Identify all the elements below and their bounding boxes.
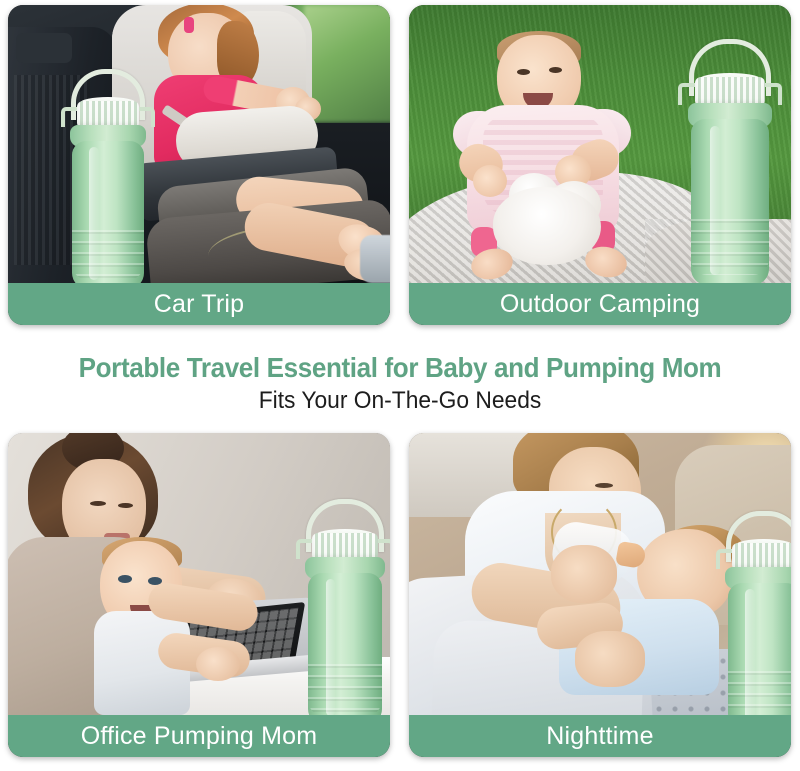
panel-outdoor-camping: Outdoor Camping (409, 5, 791, 325)
baby-hand-left (473, 165, 507, 197)
panel-caption-car-trip: Car Trip (8, 283, 390, 325)
product-bottle (290, 495, 390, 715)
bottle-ribs (308, 664, 382, 715)
baby-eye-left (517, 69, 530, 75)
scene-home-office (8, 433, 390, 715)
bottle-ribs (728, 671, 791, 715)
photo-outdoor-camping (409, 5, 791, 283)
caption-text: Nighttime (546, 722, 653, 751)
headline-block: Portable Travel Essential for Baby and P… (0, 352, 800, 415)
baby-hand (196, 647, 240, 681)
mother-eye-right (118, 503, 133, 508)
baby-eye-left (118, 575, 132, 583)
product-bottle (54, 65, 162, 283)
panel-caption-nighttime: Nighttime (409, 715, 791, 757)
mother-eye-left (90, 501, 106, 506)
bottle-body (691, 119, 769, 283)
bottle-cap (77, 101, 139, 127)
caption-text: Office Pumping Mom (81, 722, 318, 751)
background-bottle-object (360, 235, 390, 283)
bottle-ribs (72, 230, 144, 280)
bottle-body (728, 583, 791, 715)
page-subtitle: Fits Your On-The-Go Needs (20, 388, 780, 414)
panel-office-pumping-mom: Office Pumping Mom (8, 433, 390, 757)
product-feature-collage: Car Trip (0, 0, 800, 771)
panel-caption-office-pumping-mom: Office Pumping Mom (8, 715, 390, 757)
bottle-ribs (691, 219, 769, 275)
bottle-cap (312, 533, 378, 559)
panel-caption-outdoor-camping: Outdoor Camping (409, 283, 791, 325)
bottle-body (308, 573, 382, 715)
panel-car-trip: Car Trip (8, 5, 390, 325)
mother-supporting-hand (575, 631, 645, 687)
mother-eye (595, 483, 613, 488)
bottle-body (72, 141, 144, 283)
hair-clip (184, 17, 194, 33)
mother-hand-holding-bottle (551, 545, 617, 603)
scene-grass-lawn (409, 5, 791, 283)
caption-text: Outdoor Camping (500, 290, 700, 319)
caption-text: Car Trip (154, 290, 245, 319)
product-bottle (671, 35, 789, 283)
panel-nighttime: Nighttime (409, 433, 791, 757)
photo-office-pumping-mom (8, 433, 390, 715)
car-headrest (16, 33, 72, 63)
scene-bedroom-night (409, 433, 791, 715)
photo-nighttime (409, 433, 791, 715)
page-title: Portable Travel Essential for Baby and P… (28, 352, 772, 383)
product-bottle (709, 507, 791, 715)
baby-eye-right (549, 67, 562, 73)
bottle-cap (732, 543, 791, 569)
photo-car-trip (8, 5, 390, 283)
scene-car-interior (8, 5, 390, 283)
bottle-cap (695, 77, 765, 105)
